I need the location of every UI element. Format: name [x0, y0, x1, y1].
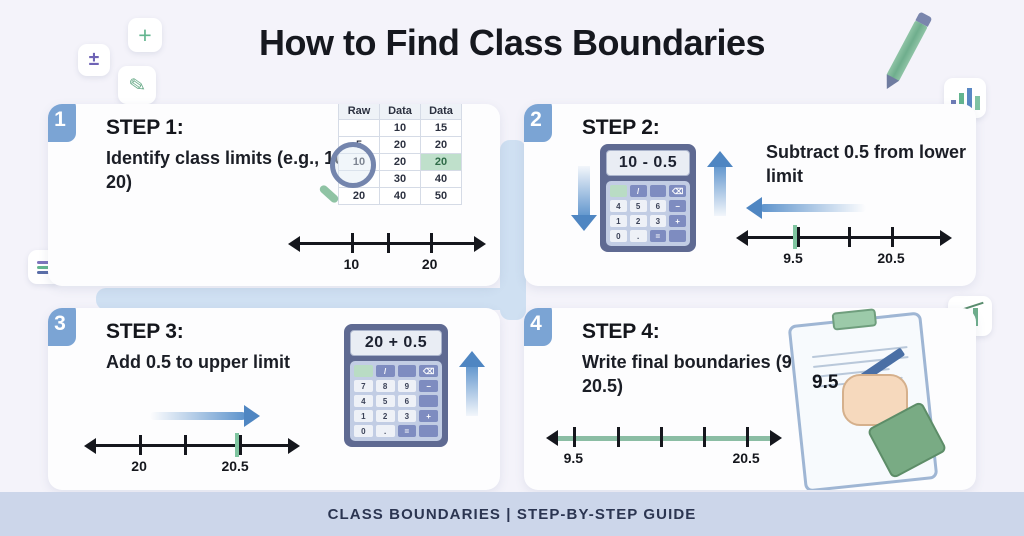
- axis-tick: [387, 233, 390, 253]
- step-heading-4: STEP 4:: [582, 320, 660, 344]
- up-arrow-step-3: [466, 364, 478, 416]
- axis-arrow-right: [940, 230, 952, 246]
- axis-tick-label: 20: [131, 458, 147, 474]
- table-cell: 10: [380, 120, 421, 137]
- step-badge-1: 1: [48, 104, 76, 142]
- step-badge-4: 4: [524, 308, 552, 346]
- axis-tick: [139, 435, 142, 455]
- axis-arrow-right: [770, 430, 782, 446]
- connector-horizontal: [96, 288, 526, 310]
- calculator-key[interactable]: 0: [354, 425, 373, 437]
- axis-tick: [430, 233, 433, 253]
- axis-tick: [351, 233, 354, 253]
- calculator-step-3: 20 + 0.5 /⌫789−456123+0.=: [344, 324, 448, 447]
- calculator-key[interactable]: 3: [650, 215, 667, 227]
- table-cell: 15: [421, 120, 462, 137]
- calculator-key[interactable]: 2: [630, 215, 647, 227]
- calculator-key[interactable]: [354, 365, 373, 377]
- axis-tick: [891, 227, 894, 247]
- footer-text: CLASS BOUNDARIES | STEP-BY-STEP GUIDE: [328, 506, 697, 523]
- table-cell: 20: [421, 154, 462, 171]
- table-cell: 20: [421, 137, 462, 154]
- calculator-display-3: 20 + 0.5: [350, 330, 442, 356]
- calculator-key[interactable]: [610, 185, 627, 197]
- step-heading-3: STEP 3:: [106, 320, 184, 344]
- calculator-display-2: 10 - 0.5: [606, 150, 690, 176]
- up-arrow-step-2: [714, 164, 726, 216]
- calculator-key[interactable]: 5: [376, 395, 395, 407]
- axis-tick: [660, 427, 663, 447]
- calculator-key[interactable]: +: [669, 215, 686, 227]
- axis-tick: [573, 427, 576, 447]
- calculator-key[interactable]: 5: [630, 200, 647, 212]
- axis-arrow-left: [736, 230, 748, 246]
- calculator-step-2: 10 - 0.5 /⌫456−123+0.=: [600, 144, 696, 252]
- plus-icon-card: +: [128, 18, 162, 52]
- axis-arrow-left: [84, 438, 96, 454]
- step-badge-2: 2: [524, 104, 552, 142]
- axis-tick-label: 20.5: [732, 450, 759, 466]
- calculator-key[interactable]: 1: [610, 215, 627, 227]
- table-row: 204050: [339, 188, 462, 205]
- magnifier-icon: [330, 142, 376, 188]
- pencil-icon-card: ✎: [118, 66, 156, 104]
- axis-arrow-right: [474, 236, 486, 252]
- plus-minus-icon-card: ±: [78, 44, 110, 76]
- plus-icon: +: [138, 22, 151, 49]
- calculator-key[interactable]: /: [630, 185, 647, 197]
- calculator-key[interactable]: 6: [398, 395, 417, 407]
- table-cell: 20: [339, 188, 380, 205]
- table-cell: 40: [421, 171, 462, 188]
- calculator-key[interactable]: [398, 365, 417, 377]
- axis-tick-label: 20.5: [877, 250, 904, 266]
- axis-arrow-left: [288, 236, 300, 252]
- calculator-key[interactable]: 8: [376, 380, 395, 392]
- axis-line: [746, 236, 942, 239]
- axis-arrow-right: [288, 438, 300, 454]
- calculator-key[interactable]: 6: [650, 200, 667, 212]
- axis-tick: [746, 427, 749, 447]
- calculator-key[interactable]: .: [630, 230, 647, 242]
- calculator-key[interactable]: −: [419, 380, 438, 392]
- table-header-0: Raw: [339, 104, 380, 120]
- axis-tick: [184, 435, 187, 455]
- calculator-key[interactable]: ⌫: [669, 185, 686, 197]
- step-body-3: Add 0.5 to upper limit: [106, 350, 366, 374]
- axis-tick: [617, 427, 620, 447]
- calculator-key[interactable]: 2: [376, 410, 395, 422]
- footer-bar: CLASS BOUNDARIES | STEP-BY-STEP GUIDE: [0, 492, 1024, 536]
- table-header-1: Data: [380, 104, 421, 120]
- handwritten-value: 9.5: [812, 372, 838, 394]
- calculator-key[interactable]: =: [650, 230, 667, 242]
- calculator-key[interactable]: =: [398, 425, 417, 437]
- direction-arrow-step-2: [760, 204, 866, 212]
- axis-tick-label: 10: [344, 256, 360, 272]
- clipboard-clip: [832, 308, 878, 331]
- axis-tick: [848, 227, 851, 247]
- axis-line: [94, 444, 290, 447]
- pencil-icon: ✎: [127, 71, 148, 99]
- calculator-key[interactable]: [669, 230, 686, 242]
- table-cell: 50: [421, 188, 462, 205]
- calculator-key[interactable]: 7: [354, 380, 373, 392]
- step-card-4: 4 STEP 4: Write final boundaries (9.5–20…: [524, 308, 976, 490]
- table-cell: 30: [380, 171, 421, 188]
- axis-line: [556, 436, 772, 441]
- calculator-key[interactable]: [419, 425, 438, 437]
- calculator-keypad-3[interactable]: /⌫789−456123+0.=: [350, 361, 442, 441]
- calculator-key[interactable]: [419, 395, 438, 407]
- table-cell: 20: [380, 137, 421, 154]
- axis-tick-label: 9.5: [564, 450, 583, 466]
- calculator-key[interactable]: 4: [610, 200, 627, 212]
- calculator-key[interactable]: 9: [398, 380, 417, 392]
- step-heading-2: STEP 2:: [582, 116, 660, 140]
- axis-tick: [797, 227, 800, 247]
- calculator-key[interactable]: 1: [354, 410, 373, 422]
- axis-tick-label: 9.5: [783, 250, 802, 266]
- table-cell: 20: [380, 154, 421, 171]
- step-body-2: Subtract 0.5 from lower limit: [766, 140, 976, 188]
- step-card-2: 2 STEP 2: Subtract 0.5 from lower limit …: [524, 104, 976, 286]
- pencil-tip: [881, 74, 899, 92]
- axis-tick-label: 20.5: [221, 458, 248, 474]
- axis-arrow-left: [546, 430, 558, 446]
- table-row: 1015: [339, 120, 462, 137]
- axis-tick-label: 20: [422, 256, 438, 272]
- infographic-stage: How to Find Class Boundaries ± + ✎: [0, 0, 1024, 536]
- calculator-key[interactable]: 4: [354, 395, 373, 407]
- step-badge-3: 3: [48, 308, 76, 346]
- direction-arrow-step-3: [150, 412, 246, 420]
- calculator-key[interactable]: 0: [610, 230, 627, 242]
- calculator-key[interactable]: +: [419, 410, 438, 422]
- calculator-key[interactable]: [650, 185, 667, 197]
- step-card-1: 1 STEP 1: Identify class limits (e.g., 1…: [48, 104, 500, 286]
- table-cell: [339, 120, 380, 137]
- step-card-3: 3 STEP 3: Add 0.5 to upper limit 20 + 0.…: [48, 308, 500, 490]
- axis-tick: [239, 435, 242, 455]
- calculator-keypad-2[interactable]: /⌫456−123+0.=: [606, 181, 690, 246]
- step-heading-1: STEP 1:: [106, 116, 184, 140]
- table-header-2: Data: [421, 104, 462, 120]
- plus-minus-icon: ±: [89, 49, 99, 71]
- calculator-key[interactable]: −: [669, 200, 686, 212]
- calculator-key[interactable]: .: [376, 425, 395, 437]
- calculator-key[interactable]: ⌫: [419, 365, 438, 377]
- calculator-key[interactable]: /: [376, 365, 395, 377]
- table-cell: 40: [380, 188, 421, 205]
- axis-tick: [703, 427, 706, 447]
- down-arrow-step-2: [578, 166, 590, 218]
- calculator-key[interactable]: 3: [398, 410, 417, 422]
